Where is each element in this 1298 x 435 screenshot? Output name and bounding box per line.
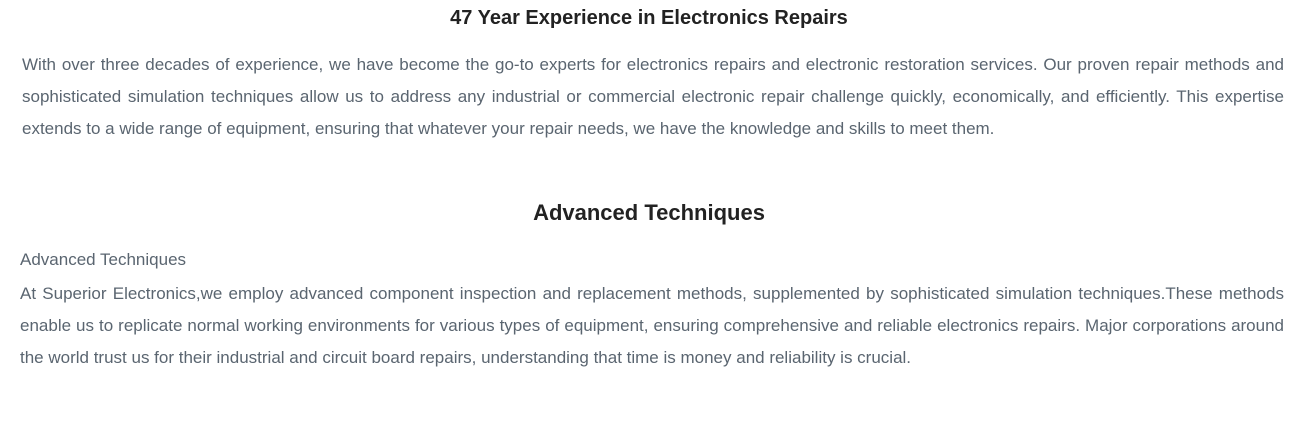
advanced-techniques-paragraph-text: At Superior Electronics,we employ advanc… [20, 278, 1284, 374]
intro-paragraph-text: With over three decades of experience, w… [22, 49, 1284, 145]
section-subheading-advanced-techniques: Advanced Techniques [20, 247, 1284, 273]
advanced-techniques-paragraph-block: At Superior Electronics,we employ advanc… [20, 278, 1284, 374]
document-page: 47 Year Experience in Electronics Repair… [0, 0, 1298, 435]
intro-paragraph-block: With over three decades of experience, w… [22, 49, 1284, 145]
section-heading-advanced-techniques: Advanced Techniques [0, 198, 1298, 228]
page-title: 47 Year Experience in Electronics Repair… [0, 5, 1298, 31]
